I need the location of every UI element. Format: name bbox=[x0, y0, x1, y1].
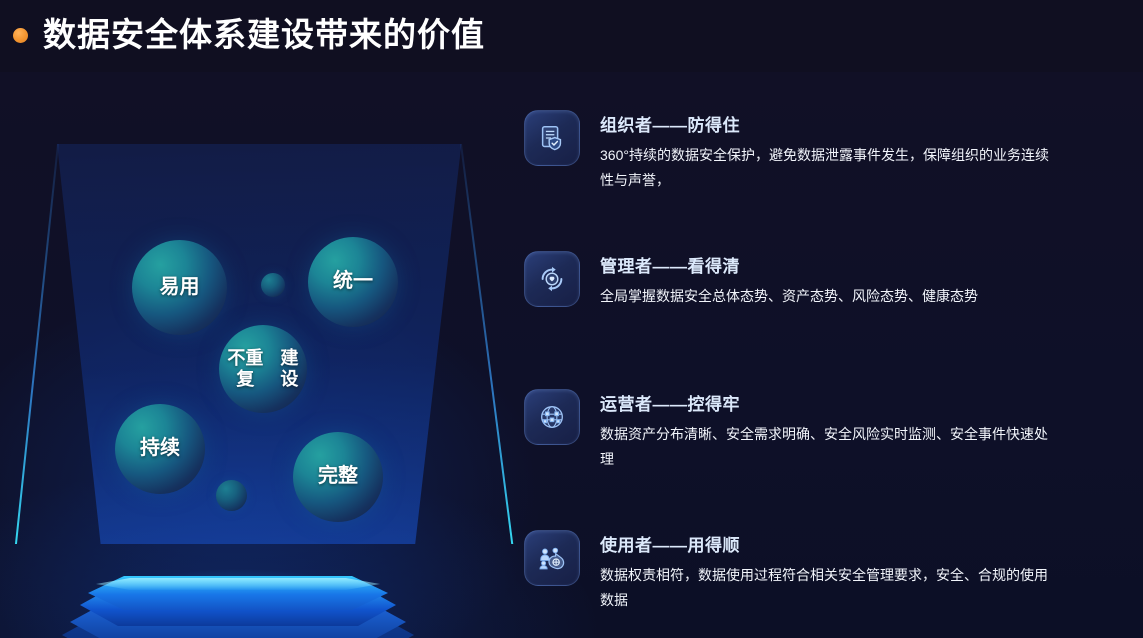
value-sphere: 易用 bbox=[132, 240, 227, 335]
list-item-title: 管理者——看得清 bbox=[600, 252, 1124, 277]
list-item[interactable]: 组织者——防得住 360°持续的数据安全保护，避免数据泄露事件发生，保障组织的业… bbox=[524, 110, 1124, 193]
monitoring-cycle-icon bbox=[524, 251, 580, 307]
sphere-label: 统一 bbox=[333, 270, 373, 293]
value-sphere: 持续 bbox=[115, 404, 205, 494]
sphere-label: 不重复 bbox=[219, 348, 272, 390]
list-item-description: 数据资产分布清晰、安全需求明确、安全风险实时监测、安全事件快速处理 bbox=[600, 422, 1052, 472]
sphere-label: 建设 bbox=[272, 348, 307, 390]
value-sphere: 统一 bbox=[308, 237, 398, 327]
list-item[interactable]: 使用者——用得顺 数据权责相符，数据使用过程符合相关安全管理要求，安全、合规的使… bbox=[524, 530, 1124, 613]
list-item-title: 运营者——控得牢 bbox=[600, 390, 1124, 415]
value-list: 组织者——防得住 360°持续的数据安全保护，避免数据泄露事件发生，保障组织的业… bbox=[524, 110, 1124, 613]
funnel-sphere-platform-illustration: 易用统一不重复建设持续完整 bbox=[0, 72, 500, 638]
bullet-dot-icon bbox=[13, 28, 28, 43]
list-item-title: 组织者——防得住 bbox=[600, 111, 1124, 136]
value-sphere: 不重复建设 bbox=[219, 325, 307, 413]
slide-root: 数据安全体系建设带来的价值 易用统一不重复建设持续完整 bbox=[0, 0, 1143, 638]
list-item[interactable]: 运营者——控得牢 数据资产分布清晰、安全需求明确、安全风险实时监测、安全事件快速… bbox=[524, 389, 1124, 472]
sphere-label: 易用 bbox=[160, 276, 200, 299]
list-item-title: 使用者——用得顺 bbox=[600, 531, 1124, 556]
platform-highlight bbox=[96, 578, 380, 590]
decorative-bubble bbox=[261, 273, 285, 297]
decorative-bubble bbox=[216, 480, 247, 511]
funnel-left-edge bbox=[15, 144, 59, 544]
data-network-icon bbox=[524, 389, 580, 445]
list-item-description: 360°持续的数据安全保护，避免数据泄露事件发生，保障组织的业务连续性与声誉， bbox=[600, 143, 1052, 193]
sphere-label: 持续 bbox=[140, 437, 180, 460]
list-item[interactable]: 管理者——看得清 全局掌握数据安全总体态势、资产态势、风险态势、健康态势 bbox=[524, 251, 1124, 331]
document-shield-icon bbox=[524, 110, 580, 166]
header-bar: 数据安全体系建设带来的价值 bbox=[0, 0, 1143, 72]
list-item-description: 全局掌握数据安全总体态势、资产态势、风险态势、健康态势 bbox=[600, 284, 1052, 309]
sphere-label: 完整 bbox=[318, 465, 358, 488]
page-title: 数据安全体系建设带来的价值 bbox=[43, 8, 485, 62]
list-item-description: 数据权责相符，数据使用过程符合相关安全管理要求，安全、合规的使用数据 bbox=[600, 563, 1052, 613]
value-sphere: 完整 bbox=[293, 432, 383, 522]
users-data-icon bbox=[524, 530, 580, 586]
